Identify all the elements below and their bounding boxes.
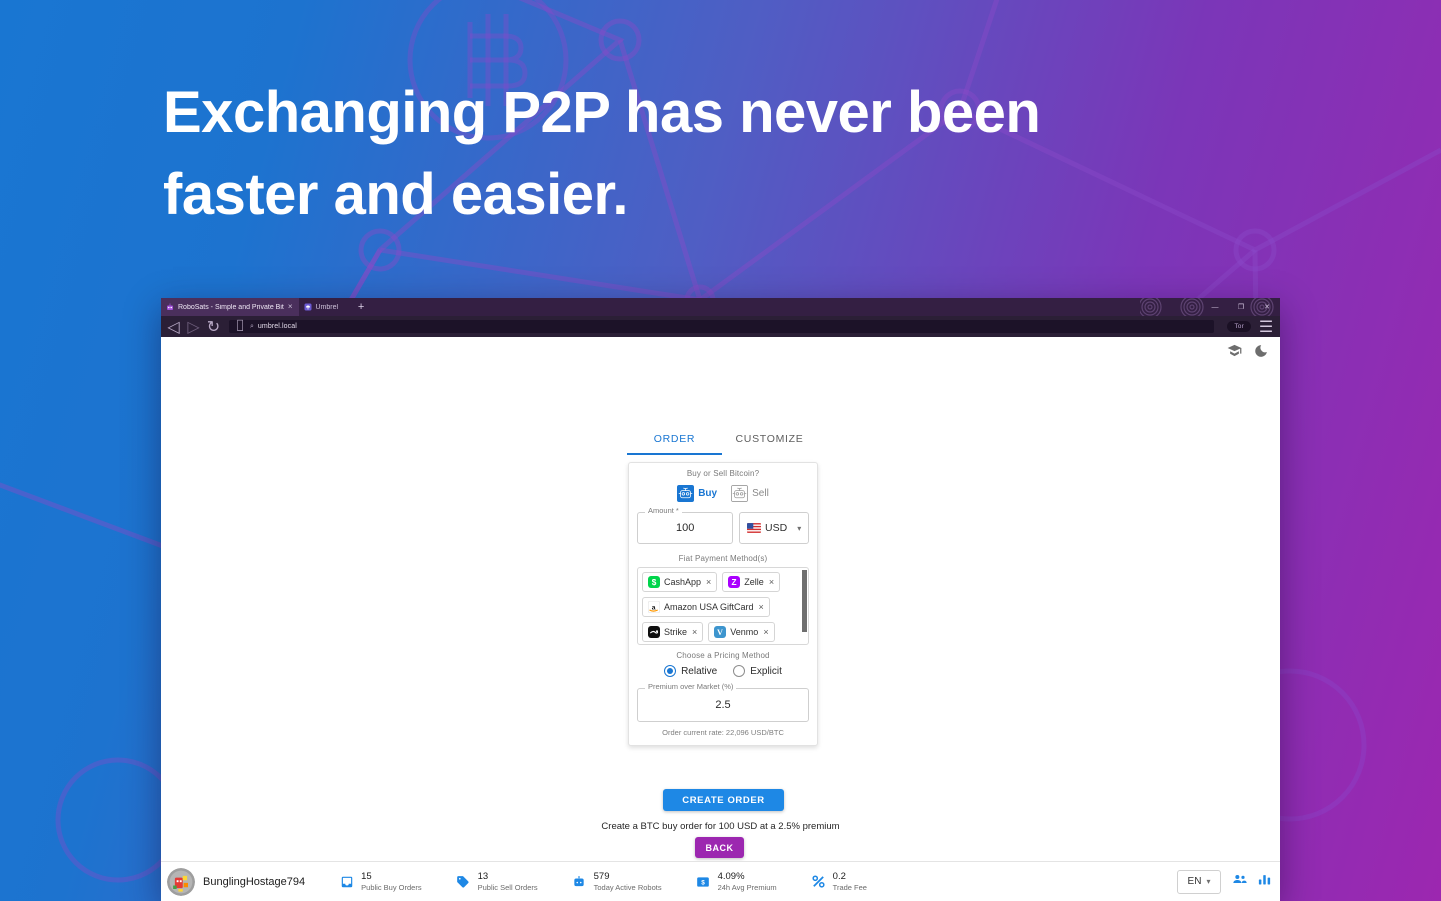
amount-field[interactable]: Amount * 100 xyxy=(637,512,733,544)
stats-chart-icon[interactable] xyxy=(1257,872,1272,892)
amazon-icon: a xyxy=(648,601,660,613)
back-icon[interactable]: ◁ xyxy=(167,320,180,333)
learn-icon[interactable] xyxy=(1227,343,1242,358)
url-text: umbrel.local xyxy=(258,323,297,330)
hamburger-menu-icon[interactable]: ☰ xyxy=(1258,317,1274,337)
chevron-down-icon: ▾ xyxy=(797,524,801,533)
stat-value: 15 xyxy=(361,871,421,883)
app-tab-bar: ORDER CUSTOMIZE xyxy=(627,433,817,455)
search-icon: ⌕ xyxy=(250,323,254,331)
buy-sell-toggle: Buy Sell xyxy=(637,485,809,502)
buy-option[interactable]: Buy xyxy=(677,485,717,502)
window-controls: — ❐ ✕ xyxy=(1202,298,1280,316)
payment-chip-venmo[interactable]: V Venmo × xyxy=(708,622,774,642)
app-top-icons xyxy=(1227,343,1268,358)
minimize-icon[interactable]: — xyxy=(1202,298,1228,316)
browser-tab-robosats[interactable]: RoboSats - Simple and Private Bit × xyxy=(161,298,299,316)
payment-chip-label: CashApp xyxy=(664,577,701,587)
stat-label: Public Buy Orders xyxy=(361,883,421,892)
remove-icon[interactable]: × xyxy=(763,627,768,637)
stat-trade-fee: 0.2 Trade Fee xyxy=(811,871,867,892)
order-form-card: Buy or Sell Bitcoin? Buy xyxy=(628,462,818,746)
tor-status-badge[interactable]: Tor xyxy=(1227,321,1251,332)
amount-row: Amount * 100 xyxy=(637,512,809,544)
robot-icon xyxy=(572,874,587,889)
stat-value: 13 xyxy=(478,871,538,883)
payment-chip-amazon[interactable]: a Amazon USA GiftCard × xyxy=(642,597,770,617)
address-bar[interactable]: ⌷ ⌕ umbrel.local xyxy=(229,320,1214,333)
payment-chip-strike[interactable]: Strike × xyxy=(642,622,703,642)
stat-text: 0.2 Trade Fee xyxy=(833,871,867,892)
stat-label: Public Sell Orders xyxy=(478,883,538,892)
hero-line-1: Exchanging P2P has never been xyxy=(163,72,1163,154)
stat-value: 579 xyxy=(594,871,662,883)
payment-methods-section: Fiat Payment Method(s) $ CashApp × xyxy=(637,554,809,645)
stat-active-robots: 579 Today Active Robots xyxy=(572,871,662,892)
remove-icon[interactable]: × xyxy=(769,577,774,587)
pricing-option-label: Relative xyxy=(681,666,717,677)
app-page: ORDER CUSTOMIZE Buy or Sell Bitcoin? xyxy=(161,337,1280,901)
remove-icon[interactable]: × xyxy=(759,602,764,612)
robot-avatar[interactable] xyxy=(167,868,195,896)
browser-tab-title: RoboSats - Simple and Private Bit xyxy=(178,304,284,311)
browser-tab-title: Umbrel xyxy=(316,304,339,311)
stat-value: 0.2 xyxy=(833,871,867,883)
buy-sell-caption: Buy or Sell Bitcoin? xyxy=(637,469,809,478)
reload-icon[interactable]: ↻ xyxy=(207,320,220,333)
maximize-icon[interactable]: ❐ xyxy=(1228,298,1254,316)
buy-robot-icon xyxy=(677,485,694,502)
pricing-option-label: Explicit xyxy=(750,666,782,677)
zelle-icon: Z xyxy=(728,576,740,588)
radio-icon xyxy=(733,665,745,677)
svg-text:a: a xyxy=(652,604,656,611)
payment-chip-cashapp[interactable]: $ CashApp × xyxy=(642,572,717,592)
radio-icon xyxy=(664,665,676,677)
language-selector[interactable]: EN ▾ xyxy=(1177,870,1221,894)
umbrel-favicon xyxy=(304,303,312,311)
theme-toggle-icon[interactable] xyxy=(1254,344,1268,358)
chevron-down-icon: ▾ xyxy=(1206,877,1210,886)
community-icon[interactable] xyxy=(1232,871,1248,892)
tag-icon xyxy=(456,874,471,889)
stat-text: 13 Public Sell Orders xyxy=(478,871,538,892)
reader-mode-icon[interactable]: ⌷ xyxy=(234,318,246,336)
premium-field[interactable]: Premium over Market (%) 2.5 xyxy=(637,688,809,722)
stat-text: 15 Public Buy Orders xyxy=(361,871,421,892)
pricing-option-explicit[interactable]: Explicit xyxy=(733,665,782,677)
percent-icon xyxy=(811,874,826,889)
browser-tab-strip: RoboSats - Simple and Private Bit × Umbr… xyxy=(161,298,1280,316)
pricing-caption: Choose a Pricing Method xyxy=(637,651,809,660)
currency-value: USD xyxy=(765,522,787,534)
strike-icon xyxy=(648,626,660,638)
back-button[interactable]: BACK xyxy=(695,837,744,858)
payment-row: Strike × V Venmo × xyxy=(642,622,804,642)
status-bar: BunglingHostage794 15 Public Buy Orders xyxy=(161,861,1280,901)
hero-line-2: faster and easier. xyxy=(163,154,1163,236)
close-window-icon[interactable]: ✕ xyxy=(1254,298,1280,316)
cashapp-icon: $ xyxy=(648,576,660,588)
stat-24h-avg-premium: $ 4.09% 24h Avg Premium xyxy=(696,871,777,892)
svg-text:V: V xyxy=(717,628,723,637)
create-order-button[interactable]: CREATE ORDER xyxy=(663,789,784,811)
robosats-favicon xyxy=(166,303,174,311)
us-flag-icon xyxy=(747,523,761,533)
stat-label: Today Active Robots xyxy=(594,883,662,892)
payment-chip-label: Zelle xyxy=(744,577,764,587)
payment-row: $ CashApp × Z Zelle xyxy=(642,572,804,592)
sell-robot-icon xyxy=(731,485,748,502)
forward-icon[interactable]: ▷ xyxy=(187,320,200,333)
browser-tab-umbrel[interactable]: Umbrel xyxy=(299,298,345,316)
svg-text:Z: Z xyxy=(732,578,737,587)
language-value: EN xyxy=(1188,876,1202,887)
sell-option[interactable]: Sell xyxy=(731,485,769,502)
premium-value: 2.5 xyxy=(638,689,808,721)
stat-public-sell-orders: 13 Public Sell Orders xyxy=(456,871,538,892)
stat-label: Trade Fee xyxy=(833,883,867,892)
browser-nav-bar: ◁ ▷ ↻ ⌷ ⌕ umbrel.local Tor ☰ xyxy=(161,316,1280,337)
pricing-method-radios: Relative Explicit xyxy=(637,665,809,677)
inbox-icon xyxy=(339,874,354,889)
stat-text: 579 Today Active Robots xyxy=(594,871,662,892)
payment-row: a Amazon USA GiftCard × xyxy=(642,597,804,617)
close-icon[interactable]: × xyxy=(288,303,293,311)
svg-text:$: $ xyxy=(652,578,657,587)
hero-headline: Exchanging P2P has never been faster and… xyxy=(163,72,1163,236)
payment-methods-list[interactable]: $ CashApp × Z Zelle xyxy=(637,567,809,645)
screenshot-root: Exchanging P2P has never been faster and… xyxy=(0,0,1441,901)
username-label: BunglingHostage794 xyxy=(203,876,305,888)
browser-window: RoboSats - Simple and Private Bit × Umbr… xyxy=(161,298,1280,901)
amount-value: 100 xyxy=(638,513,732,543)
tab-order[interactable]: ORDER xyxy=(627,433,722,455)
venmo-icon: V xyxy=(714,626,726,638)
price-change-icon: $ xyxy=(696,874,711,889)
stat-label: 24h Avg Premium xyxy=(718,883,777,892)
sell-label: Sell xyxy=(752,488,769,499)
buy-label: Buy xyxy=(698,488,717,499)
payment-chip-zelle[interactable]: Z Zelle × xyxy=(722,572,780,592)
pricing-option-relative[interactable]: Relative xyxy=(664,665,717,677)
payment-chip-label: Strike xyxy=(664,627,687,637)
current-rate-text: Order current rate: 22,096 USD/BTC xyxy=(637,728,809,737)
pricing-section: Choose a Pricing Method Relative Explici… xyxy=(637,651,809,737)
order-summary-text: Create a BTC buy order for 100 USD at a … xyxy=(161,821,1280,832)
payment-chip-label: Amazon USA GiftCard xyxy=(664,602,754,612)
payment-chip-label: Venmo xyxy=(730,627,758,637)
payment-list-scrollbar[interactable] xyxy=(802,570,807,632)
stat-text: 4.09% 24h Avg Premium xyxy=(718,871,777,892)
status-bar-right-icons xyxy=(1232,871,1272,892)
payment-caption: Fiat Payment Method(s) xyxy=(637,554,809,563)
new-tab-button[interactable]: + xyxy=(344,298,378,316)
stat-value: 4.09% xyxy=(718,871,777,883)
svg-text:$: $ xyxy=(701,879,705,886)
stat-public-buy-orders: 15 Public Buy Orders xyxy=(339,871,421,892)
remove-icon[interactable]: × xyxy=(706,577,711,587)
remove-icon[interactable]: × xyxy=(692,627,697,637)
tab-customize[interactable]: CUSTOMIZE xyxy=(722,433,817,455)
currency-select[interactable]: USD ▾ xyxy=(739,512,809,544)
